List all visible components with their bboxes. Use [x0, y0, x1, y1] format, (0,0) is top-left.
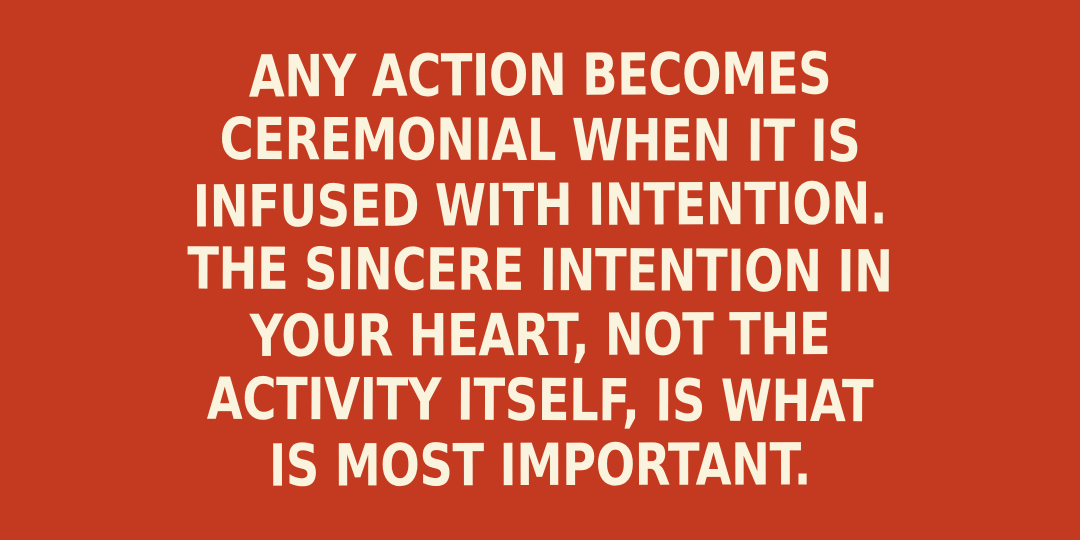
quote-line-1: ANY ACTION BECOMES [180, 41, 900, 110]
quote-card: ANY ACTION BECOMES CEREMONIAL WHEN IT IS… [0, 0, 1080, 540]
quote-line-3: INFUSED WITH INTENTION. [180, 171, 900, 239]
quote-line-6: ACTIVITY ITSELF, IS WHAT [180, 366, 900, 434]
quote-line-2: CEREMONIAL WHEN IT IS [180, 106, 900, 173]
quote-line-4: THE SINCERE INTENTION IN [180, 236, 900, 304]
quote-line-5: YOUR HEART, NOT THE [180, 301, 900, 368]
quote-line-7: IS MOST IMPORTANT. [180, 432, 900, 499]
quote-text-block: ANY ACTION BECOMES CEREMONIAL WHEN IT IS… [0, 43, 1080, 498]
